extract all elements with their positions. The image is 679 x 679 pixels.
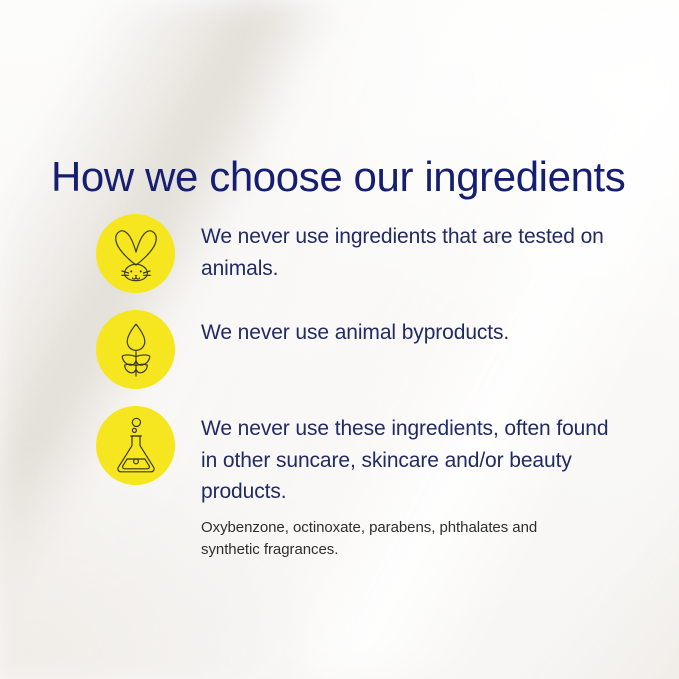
erlenmeyer-flask-icon bbox=[96, 406, 175, 485]
feature-footnote: Oxybenzone, octinoxate, parabens, phthal… bbox=[201, 517, 571, 561]
page-title: How we choose our ingredients bbox=[51, 152, 625, 202]
feature-text-block: We never use ingredients that are tested… bbox=[201, 214, 609, 284]
feature-description: We never use these ingredients, often fo… bbox=[201, 413, 609, 508]
feature-item-banned-ingredients: We never use these ingredients, often fo… bbox=[0, 406, 679, 561]
plant-sprig-icon bbox=[96, 310, 175, 389]
feature-description: We never use animal byproducts. bbox=[201, 317, 609, 349]
feature-list: We never use ingredients that are tested… bbox=[0, 214, 679, 561]
feature-item-no-animal-byproducts: We never use animal byproducts. bbox=[0, 310, 679, 389]
feature-item-cruelty-free: We never use ingredients that are tested… bbox=[0, 214, 679, 293]
feature-description: We never use ingredients that are tested… bbox=[201, 221, 609, 284]
feature-text-block: We never use animal byproducts. bbox=[201, 310, 609, 349]
bunny-heart-ears-icon bbox=[96, 214, 175, 293]
poster-content: How we choose our ingredients bbox=[0, 0, 679, 679]
feature-text-block: We never use these ingredients, often fo… bbox=[201, 406, 609, 561]
ingredients-poster: How we choose our ingredients bbox=[0, 0, 679, 679]
